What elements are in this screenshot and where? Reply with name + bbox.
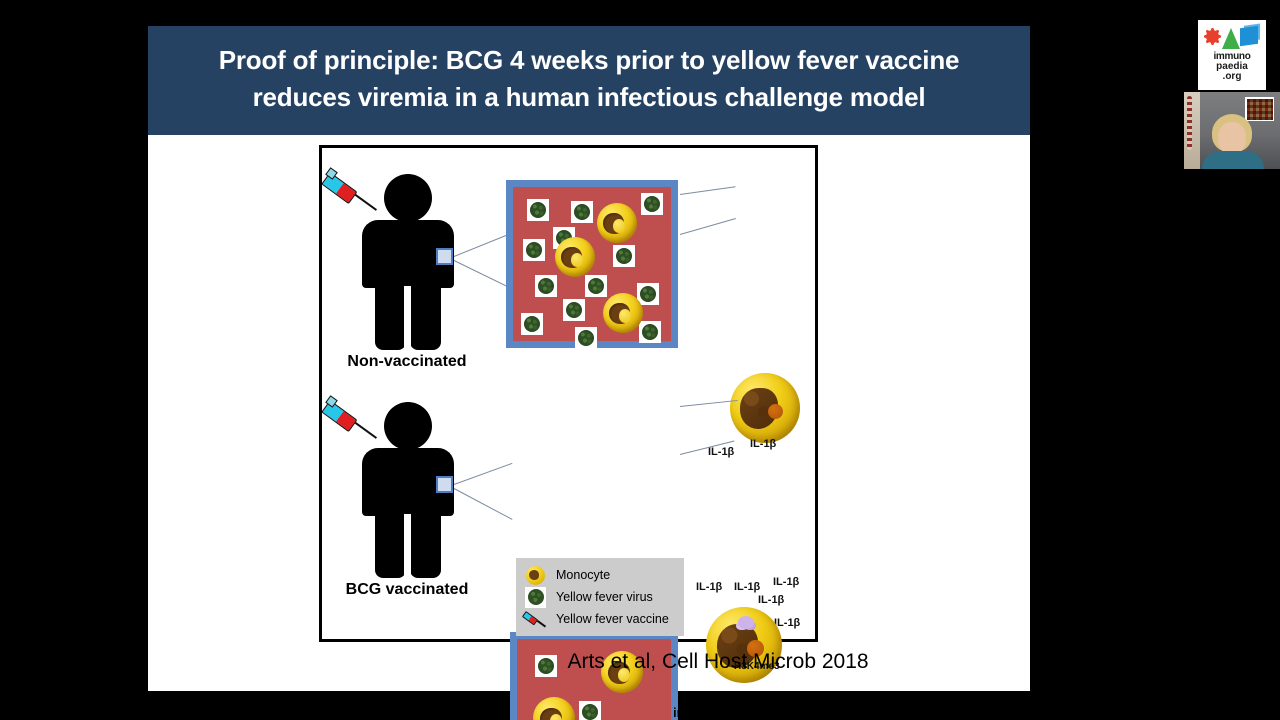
virus-particle [571,201,593,223]
video-wall-poster [1245,97,1274,121]
monocyte-icon [524,565,547,586]
presenter-shoulders [1202,151,1264,169]
presentation-slide: Proof of principle: BCG 4 weeks prior to… [148,26,1030,691]
slide-title-bar: Proof of principle: BCG 4 weeks prior to… [148,26,1030,135]
cytokine-label-il1b: IL-1β [708,446,734,458]
legend-label: Monocyte [556,568,610,582]
monocyte [533,697,575,720]
epigenetic-caption-line-1: Epigenetic changes [668,691,820,706]
virus-particle [585,275,607,297]
person-leg-right [410,278,441,350]
cytokine-label-il1b: IL-1β [696,581,722,593]
monocyte [597,203,637,243]
arm-non-vaccinated: Non-vaccinated [330,160,480,345]
person-leg-left [375,278,406,350]
slide-citation: Arts et al, Cell Host Microb 2018 [148,650,1030,674]
presenter-video-tile[interactable] [1184,92,1280,169]
slide-title-line-1: Proof of principle: BCG 4 weeks prior to… [219,42,960,79]
cube-icon [1240,26,1258,47]
monocyte [555,237,595,277]
person-leg-right [410,506,441,578]
virus-particle [527,199,549,221]
slide-title-line-2: reduces viremia in a human infectious ch… [253,79,926,116]
virus-particle [641,193,663,215]
immunopaedia-logo[interactable]: immuno paedia .org [1198,20,1266,90]
syringe-barrel [321,400,357,432]
blood-panel-bcg-vaccinated [510,632,678,720]
person-head [384,402,432,450]
person-figure-non-vaccinated [330,160,480,345]
connector-line [680,218,736,235]
virus-particle [579,701,601,720]
blood-sample-marker [436,476,453,493]
virus-particle [535,275,557,297]
person-figure-bcg-vaccinated [330,388,480,573]
figure-frame: Non-vaccinated [319,145,818,642]
sun-icon [1206,30,1219,43]
syringe-barrel [321,172,357,204]
person-head [384,174,432,222]
virus-particle [575,327,597,349]
cytokine-vesicle [738,616,754,629]
virus-particle [613,245,635,267]
virus-particle [563,299,585,321]
blood-sample-marker [436,248,453,265]
epigenetic-caption: Epigenetic changes induced by BCG reduce… [668,691,820,720]
blood-panel-non-vaccinated [506,180,678,348]
cytokine-label-il1b: IL-1β [758,594,784,606]
connector-line [680,186,736,195]
syringe-icon [524,609,547,630]
arm-bcg-vaccinated: BCG vaccinated IL-1β [330,388,480,573]
legend-label: Yellow fever virus [556,590,653,604]
video-wall-decor [1187,96,1192,150]
person-leg-left [375,506,406,578]
virus-particle [637,283,659,305]
syringe-needle [355,194,377,211]
logo-line-3: .org [1213,72,1250,82]
monocyte-enlarged [730,373,800,443]
legend-item-virus: Yellow fever virus [524,586,676,608]
legend-item-vaccine: Yellow fever vaccine [524,608,676,630]
syringe-icon [326,168,388,224]
epigenetic-caption-line-2: induced by BCG reduce [668,706,820,720]
legend-item-monocyte: Monocyte [524,564,676,586]
person-leg-gap [404,286,411,352]
cytokine-label-il1b: IL-1β [773,576,799,588]
figure-legend: Monocyte Yellow fever virus Yellow fever… [516,558,684,636]
logo-shapes [1202,25,1262,51]
virus-particle [523,239,545,261]
virus-particle [639,321,661,343]
arm-label-bcg-vaccinated: BCG vaccinated [302,581,512,599]
logo-wordmark: immuno paedia .org [1213,52,1250,83]
legend-label: Yellow fever vaccine [556,612,669,626]
cytokine-label-il1b: IL-1β [734,581,760,593]
cytokine-label-il1b: IL-1β [750,438,776,450]
virus-icon [524,587,547,608]
triangle-icon [1222,28,1240,49]
monocyte-granule [768,404,783,419]
person-leg-gap [404,514,411,580]
virus-particle [521,313,543,335]
monocyte [603,293,643,333]
arm-label-non-vaccinated: Non-vaccinated [302,353,512,371]
syringe-needle [355,422,377,439]
citation-text: Arts et al, Cell Host Microb 2018 [567,650,868,674]
screen: Proof of principle: BCG 4 weeks prior to… [0,0,1280,720]
syringe-icon [326,396,388,452]
